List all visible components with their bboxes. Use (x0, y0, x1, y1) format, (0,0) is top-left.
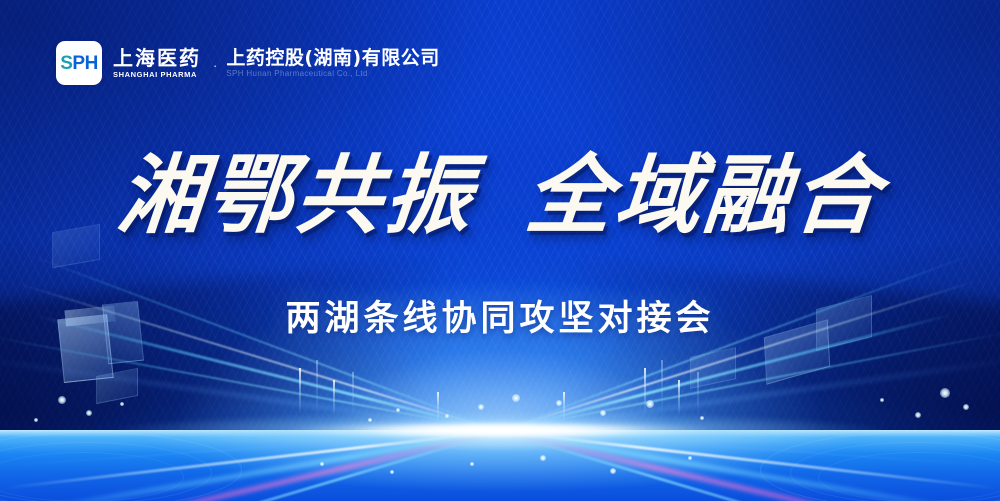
vanishing-point (350, 423, 650, 437)
main-title-part-2: 全域融合 (522, 148, 886, 244)
company-name-en: SPH Hunan Pharmaceutical Co., Ltd (226, 70, 439, 78)
event-subtitle: 两湖条线协同攻坚对接会 (0, 290, 1000, 341)
conference-banner: SPH 上海医药 SHANGHAI PHARMA · 上药控股(湖南)有限公司 … (0, 0, 1000, 501)
sph-logo-letter-s: S (60, 53, 72, 74)
brand-name-en: SHANGHAI PHARMA (113, 71, 201, 79)
company-name-cn: 上药控股(湖南)有限公司 (226, 48, 439, 69)
company-name-block: 上药控股(湖南)有限公司 SPH Hunan Pharmaceutical Co… (226, 48, 439, 79)
main-title: 湘鄂共振 全域融合 (0, 148, 1000, 244)
sph-logo-letters-ph: PH (72, 53, 97, 74)
sph-logo-mark: SPH (56, 41, 102, 85)
brand-name-cn: 上海医药 (113, 48, 201, 69)
logo-bar: SPH 上海医药 SHANGHAI PHARMA · 上药控股(湖南)有限公司 … (56, 41, 440, 85)
sph-logo-text: SPH (60, 54, 98, 73)
brand-name-block: 上海医药 SHANGHAI PHARMA (113, 48, 201, 79)
logo-separator-dot: · (213, 58, 217, 73)
main-title-part-1: 湘鄂共振 (113, 148, 477, 244)
